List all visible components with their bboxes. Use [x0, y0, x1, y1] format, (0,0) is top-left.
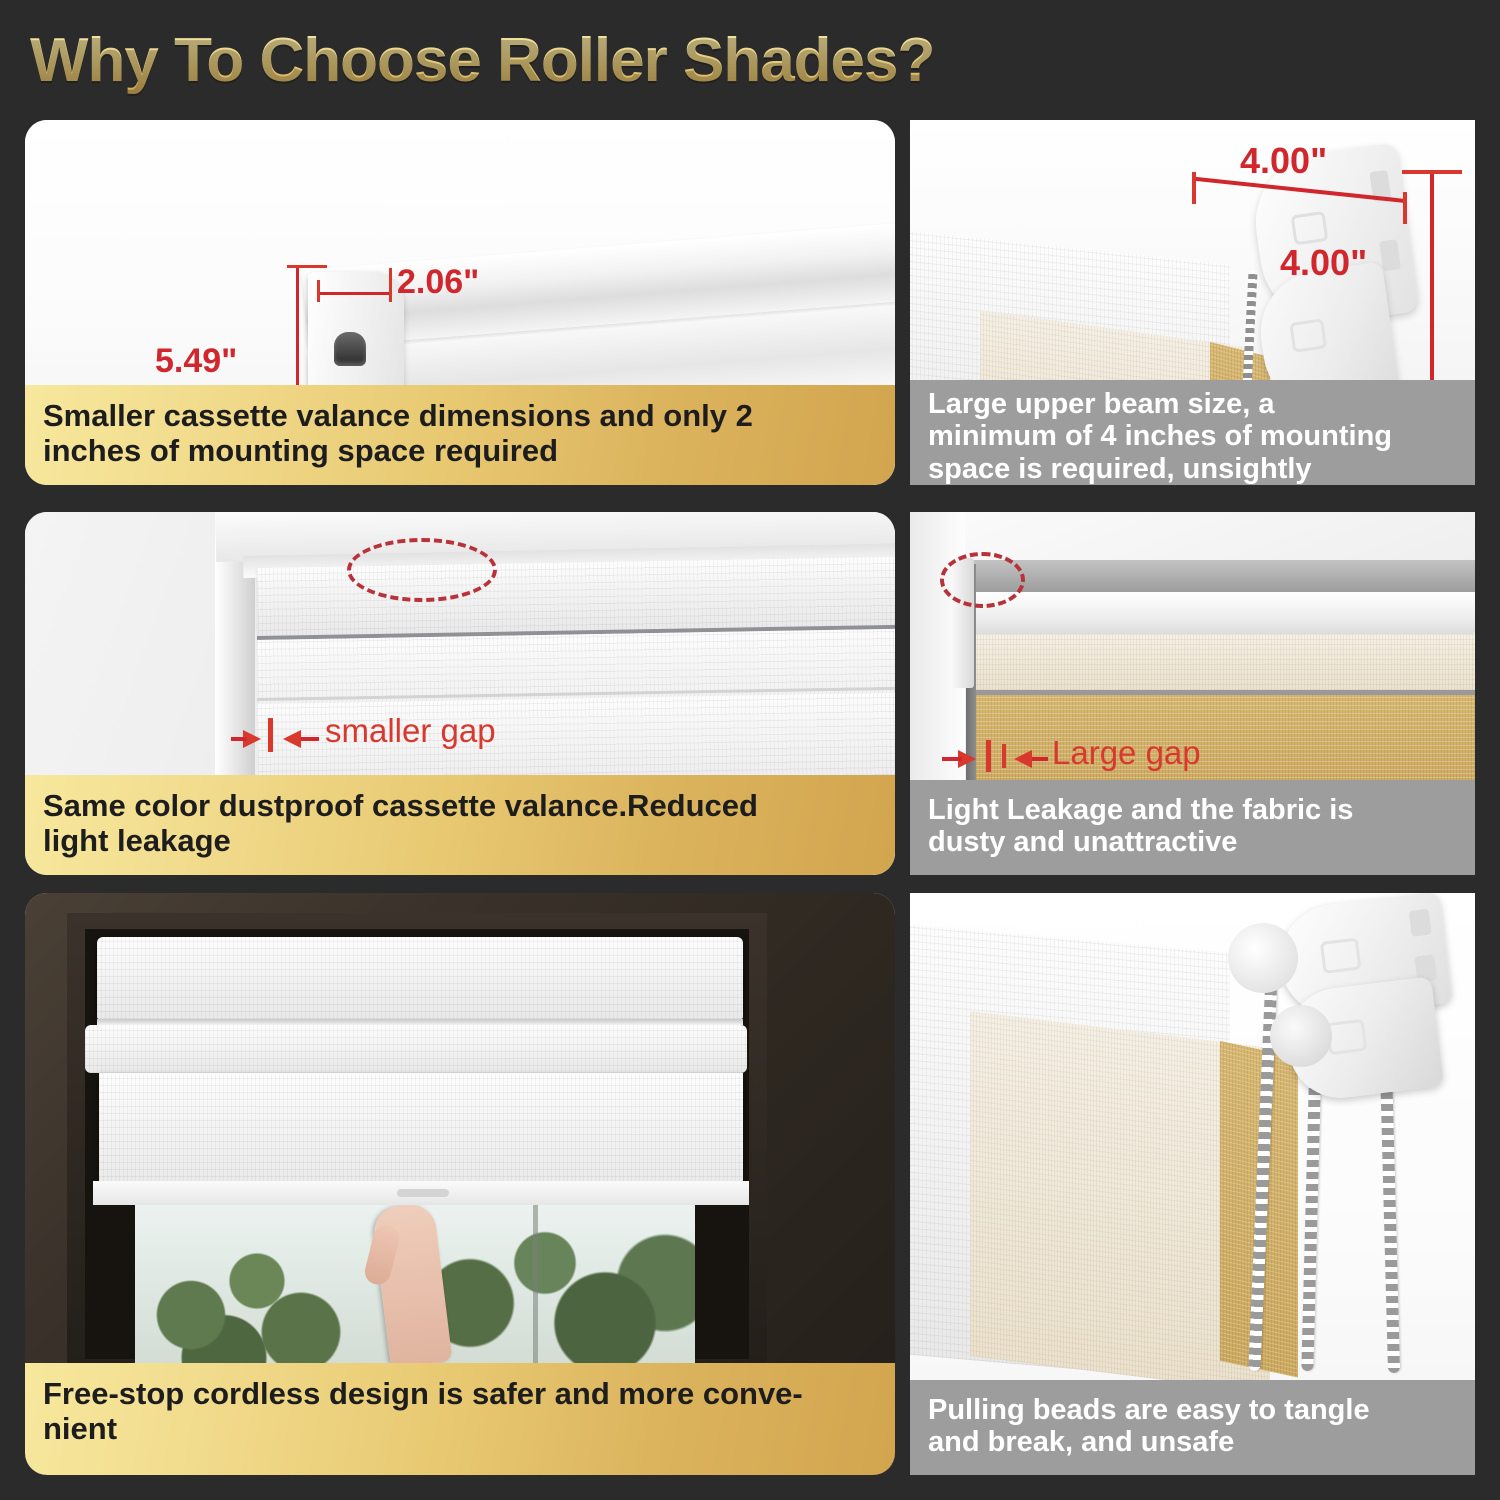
caption-line: Light Leakage and the fabric is	[928, 794, 1457, 826]
top-rail-gray	[956, 560, 1475, 594]
gap-highlight-ellipse	[347, 538, 497, 602]
beam-width-tick-right	[1403, 192, 1407, 224]
caption-line: Same color dustproof cassette valance.Re…	[43, 789, 877, 824]
large-gap-label: Large gap	[1052, 734, 1201, 772]
bracket-slot	[1379, 239, 1401, 271]
caption-line: nient	[43, 1412, 877, 1447]
bracket-emboss	[1320, 938, 1362, 974]
caption-line: light leakage	[43, 824, 877, 859]
caption-bad-beam-size: Large upper beam size, a minimum of 4 in…	[910, 380, 1475, 485]
caption-bad-light-leakage: Light Leakage and the fabric is dusty an…	[910, 780, 1475, 875]
beam-width-label: 4.00"	[1240, 140, 1327, 182]
panel-good-cordless: Free-stop cordless design is safer and m…	[25, 893, 895, 1475]
bracket-emboss	[1291, 211, 1329, 245]
beam-depth-tick-top	[1402, 170, 1462, 174]
beige-fabric-band	[968, 634, 1475, 690]
panel-good-cassette-size: 2.06" 5.49" Smaller cassette valance dim…	[25, 120, 895, 485]
gap-marker	[268, 718, 273, 752]
caption-good-cassette-size: Smaller cassette valance dimensions and …	[25, 385, 895, 485]
caption-good-cordless: Free-stop cordless design is safer and m…	[25, 1363, 895, 1475]
smaller-gap-label: smaller gap	[325, 712, 496, 750]
shade-fabric	[99, 1073, 743, 1191]
width-dimension-label: 2.06"	[397, 263, 479, 302]
clutch-slot	[334, 332, 366, 366]
caption-good-dustproof: Same color dustproof cassette valance.Re…	[25, 775, 895, 875]
panel-good-dustproof: smaller gap Same color dustproof cassett…	[25, 512, 895, 875]
panel-bad-beam-size: 4.00" 4.00" Large upper beam size, a min…	[910, 120, 1475, 485]
bracket-slot	[1409, 909, 1432, 937]
valance-lower-lip	[85, 1025, 747, 1073]
gap-arrow-left-icon	[283, 730, 301, 748]
gap-arrow-stem	[942, 757, 962, 761]
caption-line: Pulling beads are easy to tangle	[928, 1394, 1457, 1426]
width-dim-tick-right	[389, 268, 392, 302]
gap-arrow-stem	[231, 737, 247, 741]
gap-marker-2	[1002, 744, 1006, 768]
caption-line: Smaller cassette valance dimensions and …	[43, 399, 877, 434]
caption-line: inches of mounting space required	[43, 434, 877, 469]
bracket-emboss	[1289, 318, 1327, 352]
window-mullion	[533, 1193, 538, 1363]
beam-width-tick-left	[1192, 172, 1196, 204]
caption-line: Large upper beam size, a	[928, 388, 1457, 420]
caption-bad-pulling-beads: Pulling beads are easy to tangle and bre…	[910, 1380, 1475, 1475]
cassette-valance	[97, 937, 743, 1019]
top-rail-white	[956, 592, 1475, 636]
width-dim-tick-left	[317, 280, 320, 302]
page-title: Why To Choose Roller Shades?	[30, 22, 1130, 100]
gap-arrow-stem-2	[1032, 757, 1048, 761]
panel-bad-light-leakage: Large gap Light Leakage and the fabric i…	[910, 512, 1475, 875]
caption-line: space is required, unsightly	[928, 453, 1457, 485]
height-dim-tick-top	[287, 265, 327, 268]
width-dim-line	[317, 292, 392, 295]
beam-depth-label: 4.00"	[1280, 242, 1367, 284]
panel-bad-pulling-beads: Pulling beads are easy to tangle and bre…	[910, 893, 1475, 1475]
caption-line: Free-stop cordless design is safer and m…	[43, 1377, 877, 1412]
height-dimension-label: 5.49"	[155, 342, 237, 381]
gap-highlight-ellipse	[940, 552, 1025, 608]
caption-line: minimum of 4 inches of mounting	[928, 420, 1457, 452]
gap-marker	[986, 740, 991, 772]
caption-line: and break, and unsafe	[928, 1426, 1457, 1458]
tree-foliage	[135, 1213, 345, 1363]
caption-line: dusty and unattractive	[928, 826, 1457, 858]
infographic-root: Why To Choose Roller Shades? 2.06"	[0, 0, 1500, 1500]
gap-arrow-left-icon	[1014, 750, 1032, 768]
gap-arrow-stem-2	[301, 737, 319, 741]
bead-chain	[1380, 1063, 1400, 1373]
bottom-rail-handle	[397, 1189, 449, 1197]
